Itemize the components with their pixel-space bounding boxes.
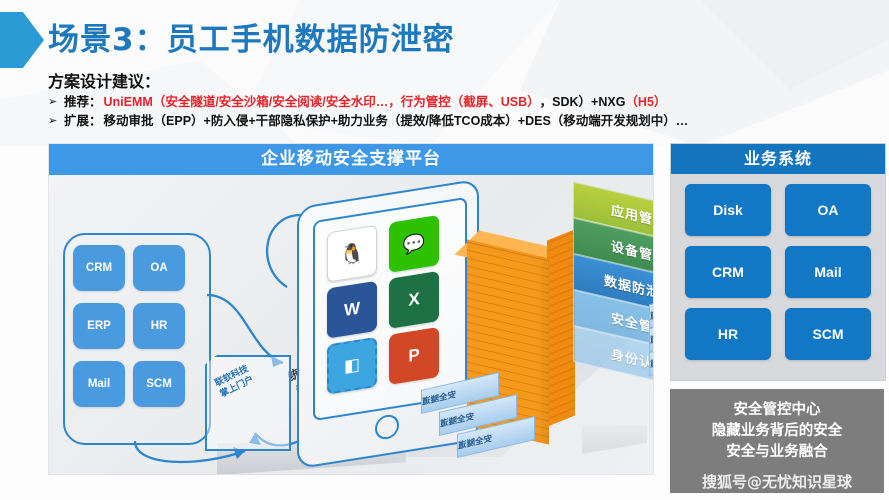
internal-apps-grid: CRM OA ERP HR Mail SCM [73,245,197,433]
management-layer-label: 设备管理 [611,235,653,267]
app-chip-scm[interactable]: SCM [133,361,185,407]
excel-icon[interactable]: X [389,271,439,329]
ribbon-label: 安全隧道 [650,325,653,346]
ribbon-label: 安全隧道 [650,301,653,322]
business-chip-disk[interactable]: Disk [685,184,771,236]
business-systems-title: 业务系统 [671,144,885,174]
word-icon[interactable]: W [327,281,377,339]
ribbon-label: 安全隧道 [650,349,653,370]
management-layer-label: 身份认证 [611,343,653,375]
architecture-diagram: 企业移动安全支撑平台 统一安全管控、统一开发框架 统一技术规范、统一身份认证 [48,143,884,500]
secure-app-icon[interactable]: ◧ [327,337,377,395]
qq-icon[interactable]: 🐧 [327,225,377,283]
business-chip-hr[interactable]: HR [685,308,771,360]
bullet-segment: UniEMM（安全隧道/安全沙箱/安全阅读/安全水印…，行为管控（截屏、USB） [104,94,540,111]
app-chip-hr[interactable]: HR [133,303,185,349]
app-chip-erp[interactable]: ERP [73,303,125,349]
management-layer-label: 应用管理 [611,199,653,231]
ribbon-label: 安全隧道 [458,431,498,452]
list-item: ➢ 推荐： UniEMM（安全隧道/安全沙箱/安全阅读/安全水印…，行为管控（截… [48,94,884,111]
app-chip-oa[interactable]: OA [133,245,185,291]
powerpoint-icon[interactable]: P [389,327,439,385]
bullet-segment: 移动审批（EPP）+防入侵+干部隐私保护+助力业务（提效/降低TCO成本）+DE… [104,113,689,130]
mobile-portal-callout: 联软科技 掌上门户 [205,355,291,451]
business-chip-oa[interactable]: OA [785,184,871,236]
watermark: 搜狐号@无忧知识星球 [670,471,884,492]
phone-app-icon-grid: 🐧 💬 W X ◧ P [327,213,449,404]
page-title: 场景3：员工手机数据防泄密 [48,14,455,59]
security-center-line: 隐藏业务背后的安全 [670,421,884,442]
security-center-line: 安全与业务融合 [670,442,884,463]
business-chip-crm[interactable]: CRM [685,246,771,298]
bullet-segment: （H5） [625,94,666,111]
bullet-label: 扩展： [64,113,102,130]
business-systems-grid: Disk OA CRM Mail HR SCM [685,184,871,370]
app-chip-mail[interactable]: Mail [73,361,125,407]
security-center-panel: 安全管控中心 隐藏业务背后的安全 安全与业务融合 搜狐号@无忧知识星球 [670,389,884,493]
ribbon-label: 安全隧道 [440,409,480,430]
platform-panel: 企业移动安全支撑平台 统一安全管控、统一开发框架 统一技术规范、统一身份认证 [48,143,654,475]
bullet-label: 推荐： [64,94,102,111]
recommendation-list: ➢ 推荐： UniEMM（安全隧道/安全沙箱/安全阅读/安全水印…，行为管控（截… [48,94,884,132]
wechat-icon[interactable]: 💬 [389,215,439,273]
slide-root: 场景3：员工手机数据防泄密 方案设计建议： ➢ 推荐： UniEMM（安全隧道/… [0,0,889,500]
business-chip-mail[interactable]: Mail [785,246,871,298]
bullet-segment: ，SDK）+NXG [540,94,626,111]
app-chip-crm[interactable]: CRM [73,245,125,291]
platform-panel-body: 统一安全管控、统一开发框架 统一技术规范、统一身份认证 [49,175,653,474]
business-chip-scm[interactable]: SCM [785,308,871,360]
bullet-marker: ➢ [48,113,64,130]
security-center-line: 安全管控中心 [670,400,884,421]
firewall-side-face [547,229,575,426]
business-systems-panel: 业务系统 Disk OA CRM Mail HR SCM [670,143,886,381]
bullet-marker: ➢ [48,94,64,111]
list-item: ➢ 扩展： 移动审批（EPP）+防入侵+干部隐私保护+助力业务（提效/降低TCO… [48,113,884,130]
business-systems-header: 业务系统 [671,144,885,174]
management-layer-stack: 应用管理 设备管理 数据防泄密 安全管控 身份认证 [573,182,653,402]
subtitle: 方案设计建议： [48,68,160,92]
platform-panel-header: 企业移动安全支撑平台 [49,144,653,175]
platform-panel-title: 企业移动安全支撑平台 [49,144,653,175]
ribbon-label: 安全隧道 [422,387,462,408]
management-layer-label: 安全管控 [611,307,653,339]
